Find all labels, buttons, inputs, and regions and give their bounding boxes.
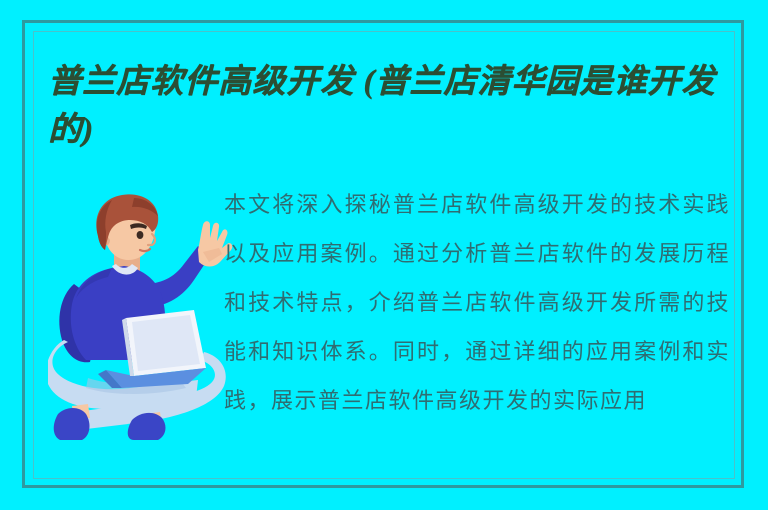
page-title: 普兰店软件高级开发 (普兰店清华园是谁开发的) <box>48 58 738 154</box>
article-banner: 普兰店软件高级开发 (普兰店清华园是谁开发的) <box>0 0 768 510</box>
article-summary-text: 本文将深入探秘普兰店软件高级开发的技术实践以及应用案例。通过分析普兰店软件的发展… <box>224 180 730 425</box>
person-sitting-with-laptop-illustration <box>48 192 238 440</box>
